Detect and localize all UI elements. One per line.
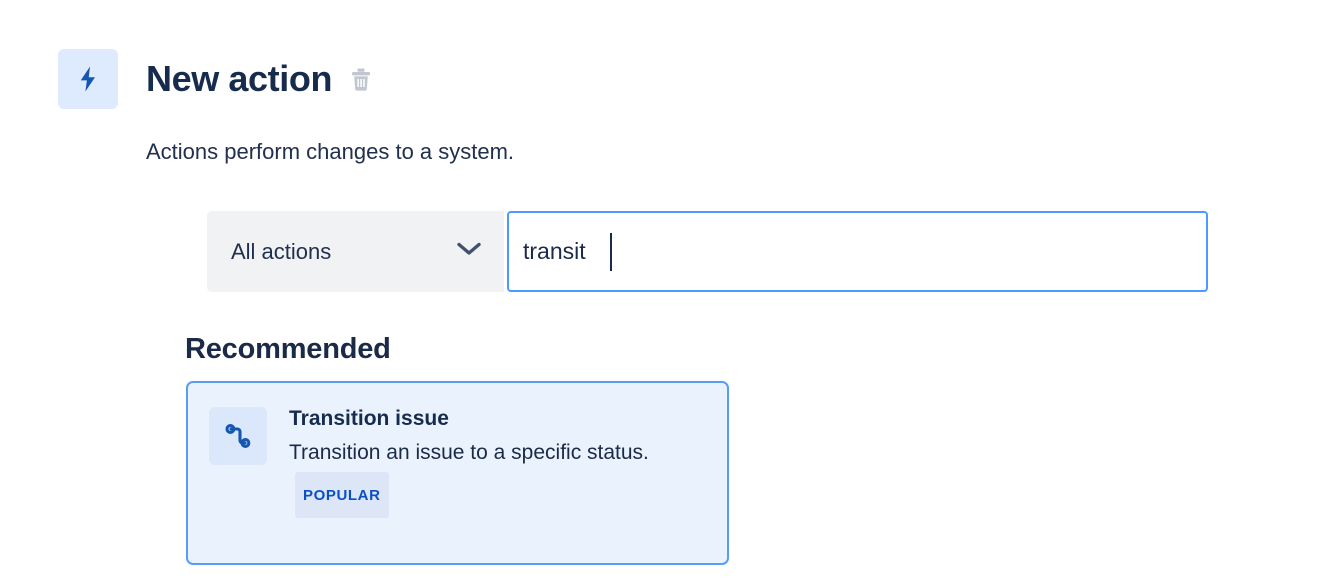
action-filter-select[interactable]: All actions [207, 211, 504, 292]
action-result-transition-issue[interactable]: Transition issue Transition an issue to … [186, 381, 729, 565]
page-title: New action [146, 61, 332, 97]
text-caret [610, 233, 612, 271]
action-result-description-text: Transition an issue to a specific status… [289, 441, 649, 464]
lightning-bolt-icon [58, 49, 118, 109]
search-input[interactable] [523, 238, 1192, 265]
action-result-text: Transition issue Transition an issue to … [289, 404, 703, 518]
action-filter-label: All actions [231, 239, 456, 265]
page-header: New action [58, 49, 374, 109]
popular-badge: POPULAR [295, 472, 389, 518]
transition-path-icon [209, 407, 267, 465]
recommended-heading: Recommended [185, 333, 391, 366]
action-search-field[interactable] [507, 211, 1208, 292]
action-result-description: Transition an issue to a specific status… [289, 433, 703, 518]
chevron-down-icon [456, 241, 482, 262]
page-subtitle: Actions perform changes to a system. [146, 138, 514, 166]
trash-icon[interactable] [348, 64, 374, 94]
action-result-title: Transition issue [289, 405, 703, 433]
action-search-row: All actions [207, 211, 1208, 292]
